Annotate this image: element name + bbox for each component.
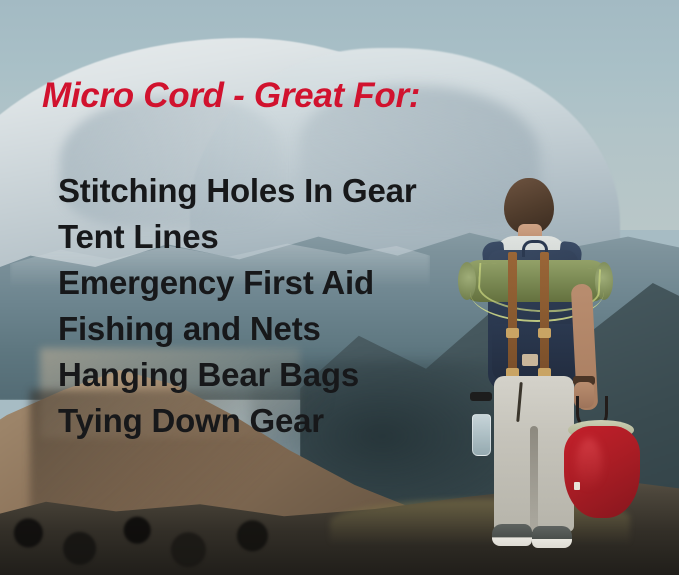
sweatpants-leg-separation (530, 426, 538, 532)
backpack-logo-patch (522, 354, 538, 366)
strap-buckle-upper-left (506, 328, 519, 338)
product-banner: Micro Cord - Great For: Stitching Holes … (0, 0, 679, 575)
hiker-shoe-left (492, 524, 532, 546)
stuff-sack-tag (574, 482, 580, 490)
hiker-shoe-right (532, 526, 572, 548)
list-item: Tying Down Gear (58, 398, 416, 444)
hiker-figure (448, 176, 658, 575)
backpack-front-flap (492, 324, 574, 382)
ledge-loose-rocks (0, 505, 310, 575)
leather-strap-left (508, 252, 517, 374)
strap-buckle-upper-right (538, 328, 551, 338)
list-item: Tent Lines (58, 214, 416, 260)
banner-headline: Micro Cord - Great For: (42, 76, 420, 116)
list-item: Fishing and Nets (58, 306, 416, 352)
red-stuff-sack (564, 426, 640, 518)
water-bottle (472, 414, 491, 456)
list-item: Hanging Bear Bags (58, 352, 416, 398)
leather-strap-right (540, 252, 549, 374)
uses-list: Stitching Holes In Gear Tent Lines Emerg… (58, 168, 416, 444)
list-item: Emergency First Aid (58, 260, 416, 306)
list-item: Stitching Holes In Gear (58, 168, 416, 214)
